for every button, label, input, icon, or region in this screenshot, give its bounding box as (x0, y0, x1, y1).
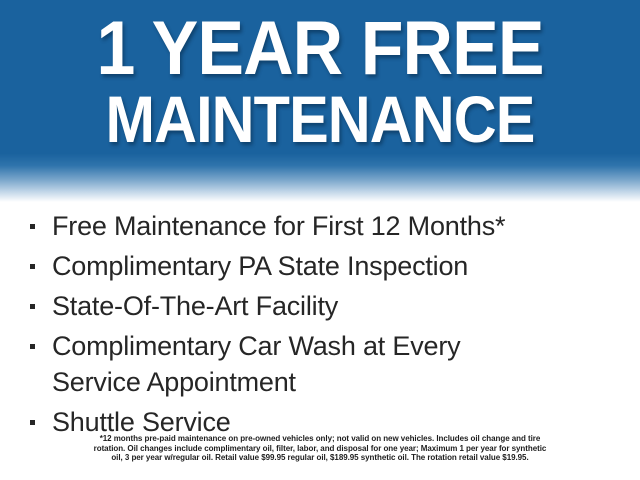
bullet-square-icon (30, 224, 35, 229)
bullet-square-icon (30, 420, 35, 425)
disclaimer-line-two: rotation. Oil changes include compliment… (32, 444, 608, 454)
list-item-label-continued: Service Appointment (52, 364, 628, 400)
bullet-square-icon (30, 264, 35, 269)
disclaimer-line-three: oil, 3 per year w/regular oil. Retail va… (32, 453, 608, 463)
headline-block: 1 YEAR FREE MAINTENANCE (0, 12, 640, 152)
list-item: State-Of-The-Art Facility (28, 288, 628, 324)
list-item: Complimentary Car Wash at Every Service … (28, 328, 628, 400)
headline-line-one: 1 YEAR FREE (26, 12, 615, 86)
promotional-offer-card: 1 YEAR FREE MAINTENANCE Free Maintenance… (0, 0, 640, 480)
disclaimer-line-one: *12 months pre-paid maintenance on pre-o… (32, 434, 608, 444)
list-item-label: Free Maintenance for First 12 Months* (52, 208, 628, 244)
list-item: Free Maintenance for First 12 Months* (28, 208, 628, 244)
bullet-square-icon (30, 304, 35, 309)
disclaimer-fine-print: *12 months pre-paid maintenance on pre-o… (32, 434, 608, 463)
header-banner: 1 YEAR FREE MAINTENANCE (0, 0, 640, 202)
bullet-square-icon (30, 344, 35, 349)
headline-line-two: MAINTENANCE (32, 86, 608, 152)
benefits-list: Free Maintenance for First 12 Months* Co… (28, 208, 628, 444)
list-item: Complimentary PA State Inspection (28, 248, 628, 284)
list-item-label: Complimentary Car Wash at Every (52, 328, 628, 364)
list-item-label: Complimentary PA State Inspection (52, 248, 628, 284)
list-item-label: State-Of-The-Art Facility (52, 288, 628, 324)
